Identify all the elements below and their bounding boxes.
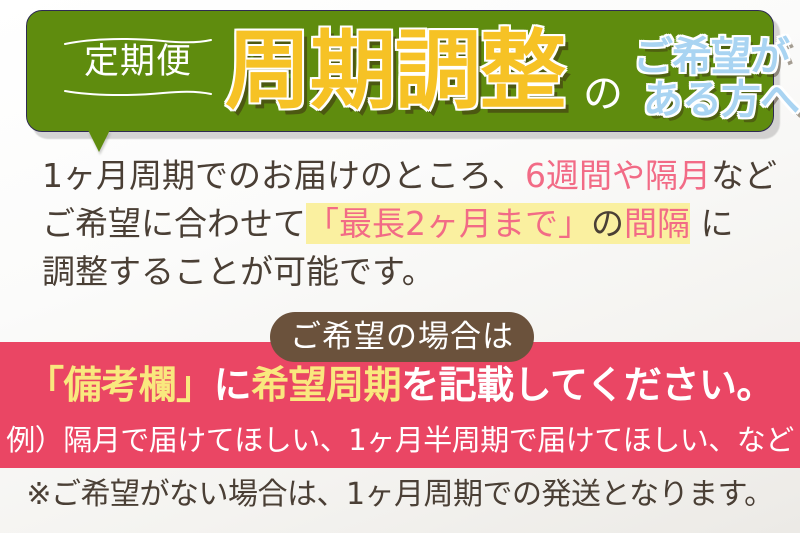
title-particle: の bbox=[583, 74, 623, 114]
header-bubble-body: 定期便 周期調整 の ご希望が ある方へ bbox=[26, 10, 774, 132]
description-line-3: 調整することが可能です。 bbox=[42, 248, 772, 296]
header-side-line-2: ある方へ bbox=[643, 79, 800, 122]
subscription-badge: 定期便 bbox=[63, 33, 213, 93]
description-line-1-part-c: など bbox=[711, 156, 777, 195]
wavy-rule-top-icon bbox=[63, 33, 213, 42]
description-line-2-highlight-interval: 間隔 bbox=[624, 203, 690, 244]
band-headline-particle: に bbox=[214, 363, 252, 407]
band-headline-field: 「備考欄」 bbox=[26, 363, 214, 407]
band-headline: 「備考欄」に希望周期を記載してください。 bbox=[0, 366, 800, 404]
description-line-2-part-a: ご希望に合わせて bbox=[42, 204, 306, 243]
request-case-pill-label: ご希望の場合は bbox=[290, 322, 514, 353]
header-side-line-1: ご希望が bbox=[633, 36, 800, 79]
description-line-2-part-e: に bbox=[690, 204, 734, 243]
band-headline-cycle: 希望周期 bbox=[251, 363, 401, 407]
description-line-1-accent: 6週間や隔月 bbox=[525, 156, 711, 195]
header-side-text: ご希望が ある方へ bbox=[633, 36, 800, 122]
wavy-rule-bottom-icon bbox=[63, 84, 213, 93]
description-line-1-part-a: 1ヶ月周期でのお届けのところ、 bbox=[42, 156, 525, 195]
main-title: 周期調整 bbox=[225, 28, 565, 114]
header-bubble: 定期便 周期調整 の ご希望が ある方へ bbox=[26, 10, 774, 132]
band-headline-instruction: を記載してください。 bbox=[401, 363, 774, 407]
subscription-badge-label: 定期便 bbox=[63, 42, 213, 84]
description-line-2-highlight-quote: 「最長2ヶ月まで」 bbox=[306, 203, 591, 244]
description-line-2-highlight-no: の bbox=[591, 203, 624, 244]
promo-banner: 定期便 周期調整 の ご希望が ある方へ 1ヶ月周期でのお届けのところ、6週間や… bbox=[0, 0, 800, 533]
description-line-1: 1ヶ月周期でのお届けのところ、6週間や隔月など bbox=[42, 152, 772, 200]
description-line-2: ご希望に合わせて「最長2ヶ月まで」の間隔 に bbox=[42, 200, 772, 248]
request-case-pill: ご希望の場合は bbox=[270, 312, 534, 362]
footnote-text: ※ご希望がない場合は、1ヶ月周期での発送となります。 bbox=[0, 480, 800, 510]
band-example-text: 例）隔月で届けてほしい、1ヶ月半周期で届けてほしい、など bbox=[0, 426, 800, 455]
bubble-tail-icon bbox=[88, 130, 110, 152]
description-paragraph: 1ヶ月周期でのお届けのところ、6週間や隔月など ご希望に合わせて「最長2ヶ月まで… bbox=[42, 152, 772, 296]
